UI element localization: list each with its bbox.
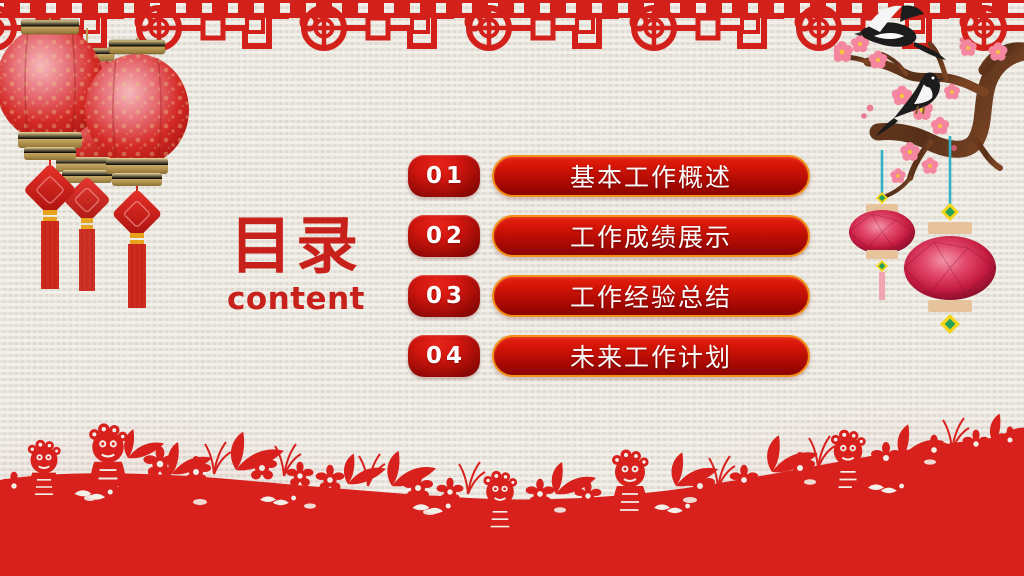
agenda-item-label: 基本工作概述 <box>570 158 732 194</box>
agenda-list: 01 基本工作概述 02 工作成绩展示 03 工作经验总结 04 未来工作计划 <box>408 155 810 377</box>
agenda-number-badge: 01 <box>408 155 480 197</box>
agenda-item-4-button[interactable]: 未来工作计划 <box>492 335 810 377</box>
list-item[interactable]: 02 工作成绩展示 <box>408 215 810 257</box>
faceted-lantern-large <box>904 203 996 334</box>
agenda-number-badge: 04 <box>408 335 480 377</box>
list-item[interactable]: 04 未来工作计划 <box>408 335 810 377</box>
page-title-cn: 目录 <box>196 215 396 277</box>
plum-branch-magpies-lanterns-icon <box>834 0 1024 340</box>
agenda-item-label: 未来工作计划 <box>570 338 732 374</box>
page-title: 目录 content <box>196 215 396 317</box>
agenda-item-label: 工作经验总结 <box>570 278 732 314</box>
agenda-item-3-button[interactable]: 工作经验总结 <box>492 275 810 317</box>
agenda-number-badge: 03 <box>408 275 480 317</box>
agenda-number-badge: 02 <box>408 215 480 257</box>
agenda-item-1-button[interactable]: 基本工作概述 <box>492 155 810 197</box>
list-item[interactable]: 01 基本工作概述 <box>408 155 810 197</box>
faceted-lantern-small <box>849 192 915 300</box>
magpie-flying-icon <box>854 5 946 60</box>
papercut-border-icon <box>0 406 1024 576</box>
agenda-item-label: 工作成绩展示 <box>570 218 732 254</box>
list-item[interactable]: 03 工作经验总结 <box>408 275 810 317</box>
page-title-en: content <box>196 281 396 317</box>
red-lantern-group-left-icon <box>0 10 204 340</box>
agenda-item-2-button[interactable]: 工作成绩展示 <box>492 215 810 257</box>
plum-branch <box>836 44 1024 196</box>
slide-canvas: 目录 content 01 基本工作概述 02 工作成绩展示 03 工作经验总结… <box>0 0 1024 576</box>
